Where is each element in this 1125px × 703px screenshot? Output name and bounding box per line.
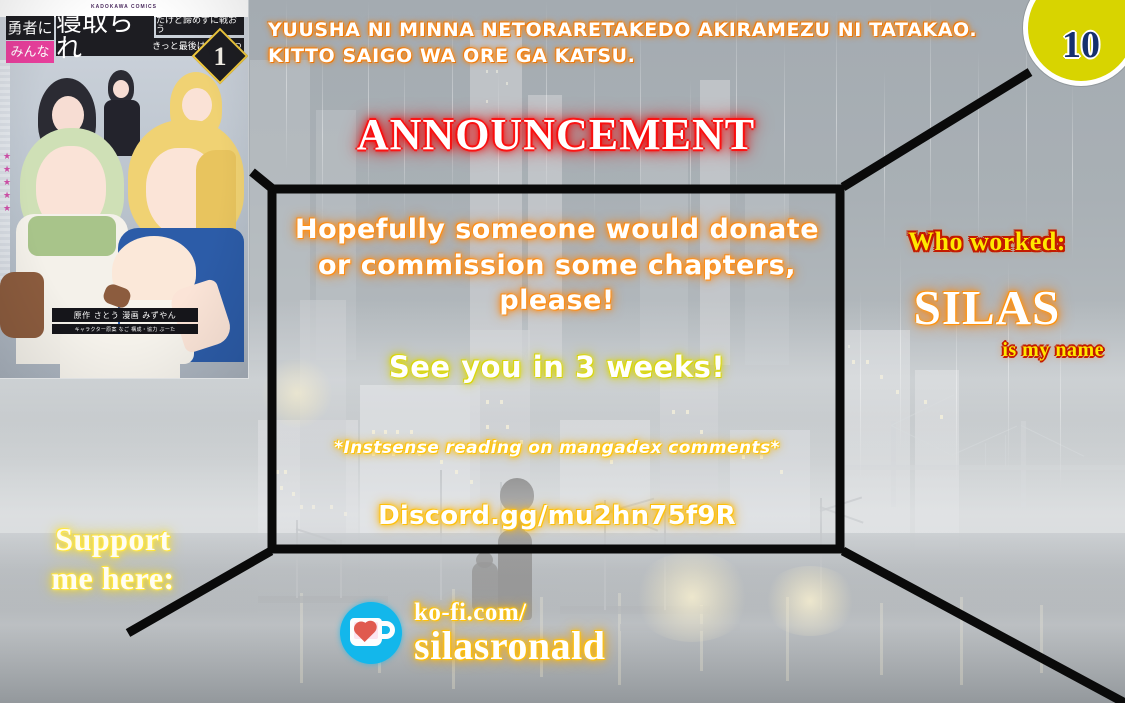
chapter-number: 10	[1028, 23, 1125, 67]
is-my-name-label: is my name	[852, 340, 1122, 361]
discord-invite-link[interactable]: Discord.gg/mu2hn75f9R	[272, 503, 842, 530]
announcement-body: Hopefully someone would donate or commis…	[272, 212, 842, 319]
announcement-heading: ANNOUNCEMENT	[268, 112, 844, 158]
kofi-support-link[interactable]: ko-fi.com/ silasronald	[340, 600, 606, 666]
kofi-cup-heart-icon	[340, 602, 402, 664]
announcement-page: KADOKAWA COMICS 勇者に みんな 寝取られ たけど諦めずに戦おう …	[0, 0, 1125, 703]
kofi-username: silasronald	[414, 626, 606, 666]
kofi-domain: ko-fi.com/	[414, 600, 606, 625]
series-title-line2: Kitto saigo wa ore ga katsu.	[268, 45, 636, 67]
who-worked-label: Who worked:	[852, 228, 1122, 255]
kofi-url-text: ko-fi.com/ silasronald	[414, 600, 606, 666]
support-heading: Support me here:	[8, 520, 218, 598]
announcement-weeks-line: See you in 3 weeks!	[272, 352, 842, 382]
translator-name: SILAS	[852, 282, 1122, 333]
series-title-line1: Yuusha ni minna netoraretakedo akiramezu…	[268, 19, 977, 41]
announcement-footnote: *Instsense reading on mangadex comments*	[272, 440, 842, 458]
series-title: Yuusha ni minna netoraretakedo akiramezu…	[268, 18, 1028, 69]
